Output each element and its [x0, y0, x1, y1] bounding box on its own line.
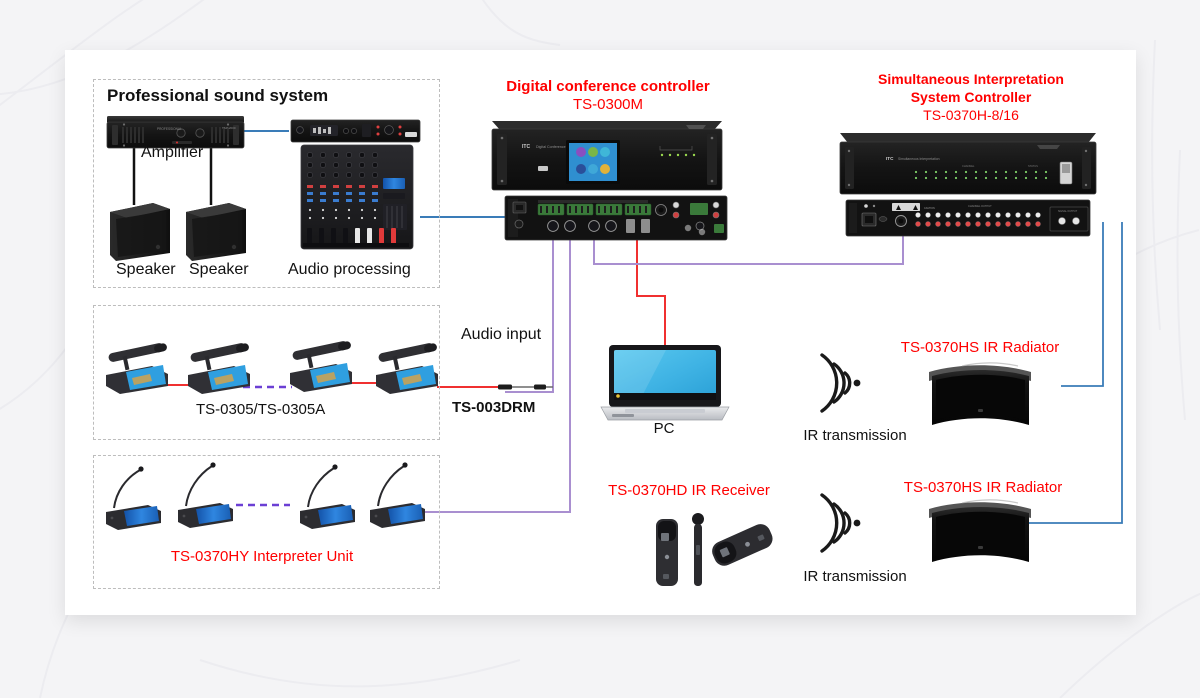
svg-text:ITC: ITC [886, 156, 894, 161]
svg-text:CHANNEL: CHANNEL [962, 164, 975, 168]
ir-wave-icon-top [822, 355, 860, 411]
interpretation-controller-front: ITC Simultaneous Interpretation CHANNEL … [840, 133, 1096, 194]
ir-radiator-bottom [929, 500, 1031, 562]
cable-controller-radiator-top [1061, 222, 1103, 386]
group-professional-sound-system [93, 79, 440, 288]
group-interpreter-units [93, 455, 440, 589]
conference-controller-model: TS-0300M [573, 96, 643, 113]
conference-controller-rear [505, 196, 727, 240]
cable-controller-radiator-bottom [1026, 222, 1122, 523]
cable-controller-audio-input [505, 240, 553, 392]
ir-receiver-label: TS-0370HD IR Receiver [608, 482, 770, 499]
svg-text:CAUTION: CAUTION [924, 207, 935, 210]
interpretation-controller-title-line2: System Controller [911, 89, 1032, 105]
ir-transmission-bottom-label: IR transmission [803, 568, 906, 585]
speaker-left-label: Speaker [116, 261, 176, 279]
audio-processing-label: Audio processing [288, 261, 411, 279]
interpretation-controller-model: TS-0370H-8/16 [923, 107, 1019, 123]
svg-text:Simultaneous Interpretation: Simultaneous Interpretation [898, 157, 940, 161]
svg-text:SIGNAL OUTPUT: SIGNAL OUTPUT [1058, 210, 1078, 213]
ir-radiator-top-label: TS-0370HS IR Radiator [901, 339, 1059, 356]
cable-controller-pc [637, 240, 665, 345]
ir-wave-icon-bottom [822, 495, 860, 551]
ir-receiver-devices [656, 513, 776, 586]
conference-mic-model-label: TS-0305/TS-0305A [196, 401, 325, 418]
ir-radiator-top [929, 363, 1031, 425]
ir-transmission-top-label: IR transmission [803, 427, 906, 444]
drm-connector [498, 385, 553, 390]
conference-controller-title: Digital conference controller [506, 78, 709, 95]
interpreter-unit-label: TS-0370HY Interpreter Unit [171, 548, 353, 565]
interpretation-controller-title-line1: Simultaneous Interpretation [878, 71, 1064, 87]
svg-text:STATUS: STATUS [1028, 164, 1038, 168]
sound-system-heading: Professional sound system [107, 86, 328, 106]
group-conference-microphones [93, 305, 440, 440]
audio-input-label: Audio input [461, 326, 541, 344]
ir-radiator-bottom-label: TS-0370HS IR Radiator [904, 479, 1062, 496]
interpretation-controller-rear: CAUTION CHANNEL OUTPUT [846, 200, 1090, 236]
speaker-right-label: Speaker [189, 261, 249, 279]
amplifier-label: Amplifier [141, 144, 203, 162]
drm-connector-label: TS-003DRM [452, 399, 535, 416]
pc-label: PC [654, 420, 675, 437]
svg-text:ITC: ITC [522, 144, 530, 150]
pc-laptop [601, 345, 729, 420]
conference-controller-front: ITC Digital Conference System [492, 121, 722, 190]
svg-text:CHANNEL OUTPUT: CHANNEL OUTPUT [968, 204, 992, 208]
